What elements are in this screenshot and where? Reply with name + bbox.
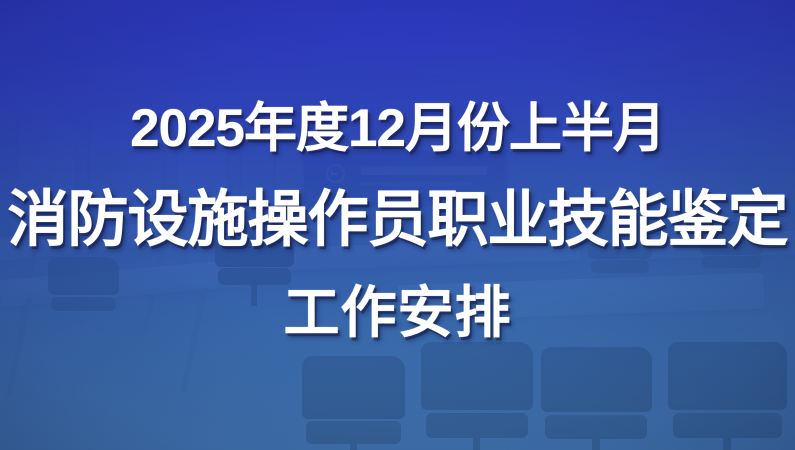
headline-line-2: 消防设施操作员职业技能鉴定	[7, 182, 787, 256]
headline-line-1: 2025年度12月份上半月	[130, 98, 665, 160]
headline-block: 2025年度12月份上半月 消防设施操作员职业技能鉴定 工作安排	[0, 0, 795, 450]
promotional-poster: 2025年度12月份上半月 消防设施操作员职业技能鉴定 工作安排	[0, 0, 795, 450]
headline-line-3: 工作安排	[284, 280, 512, 346]
